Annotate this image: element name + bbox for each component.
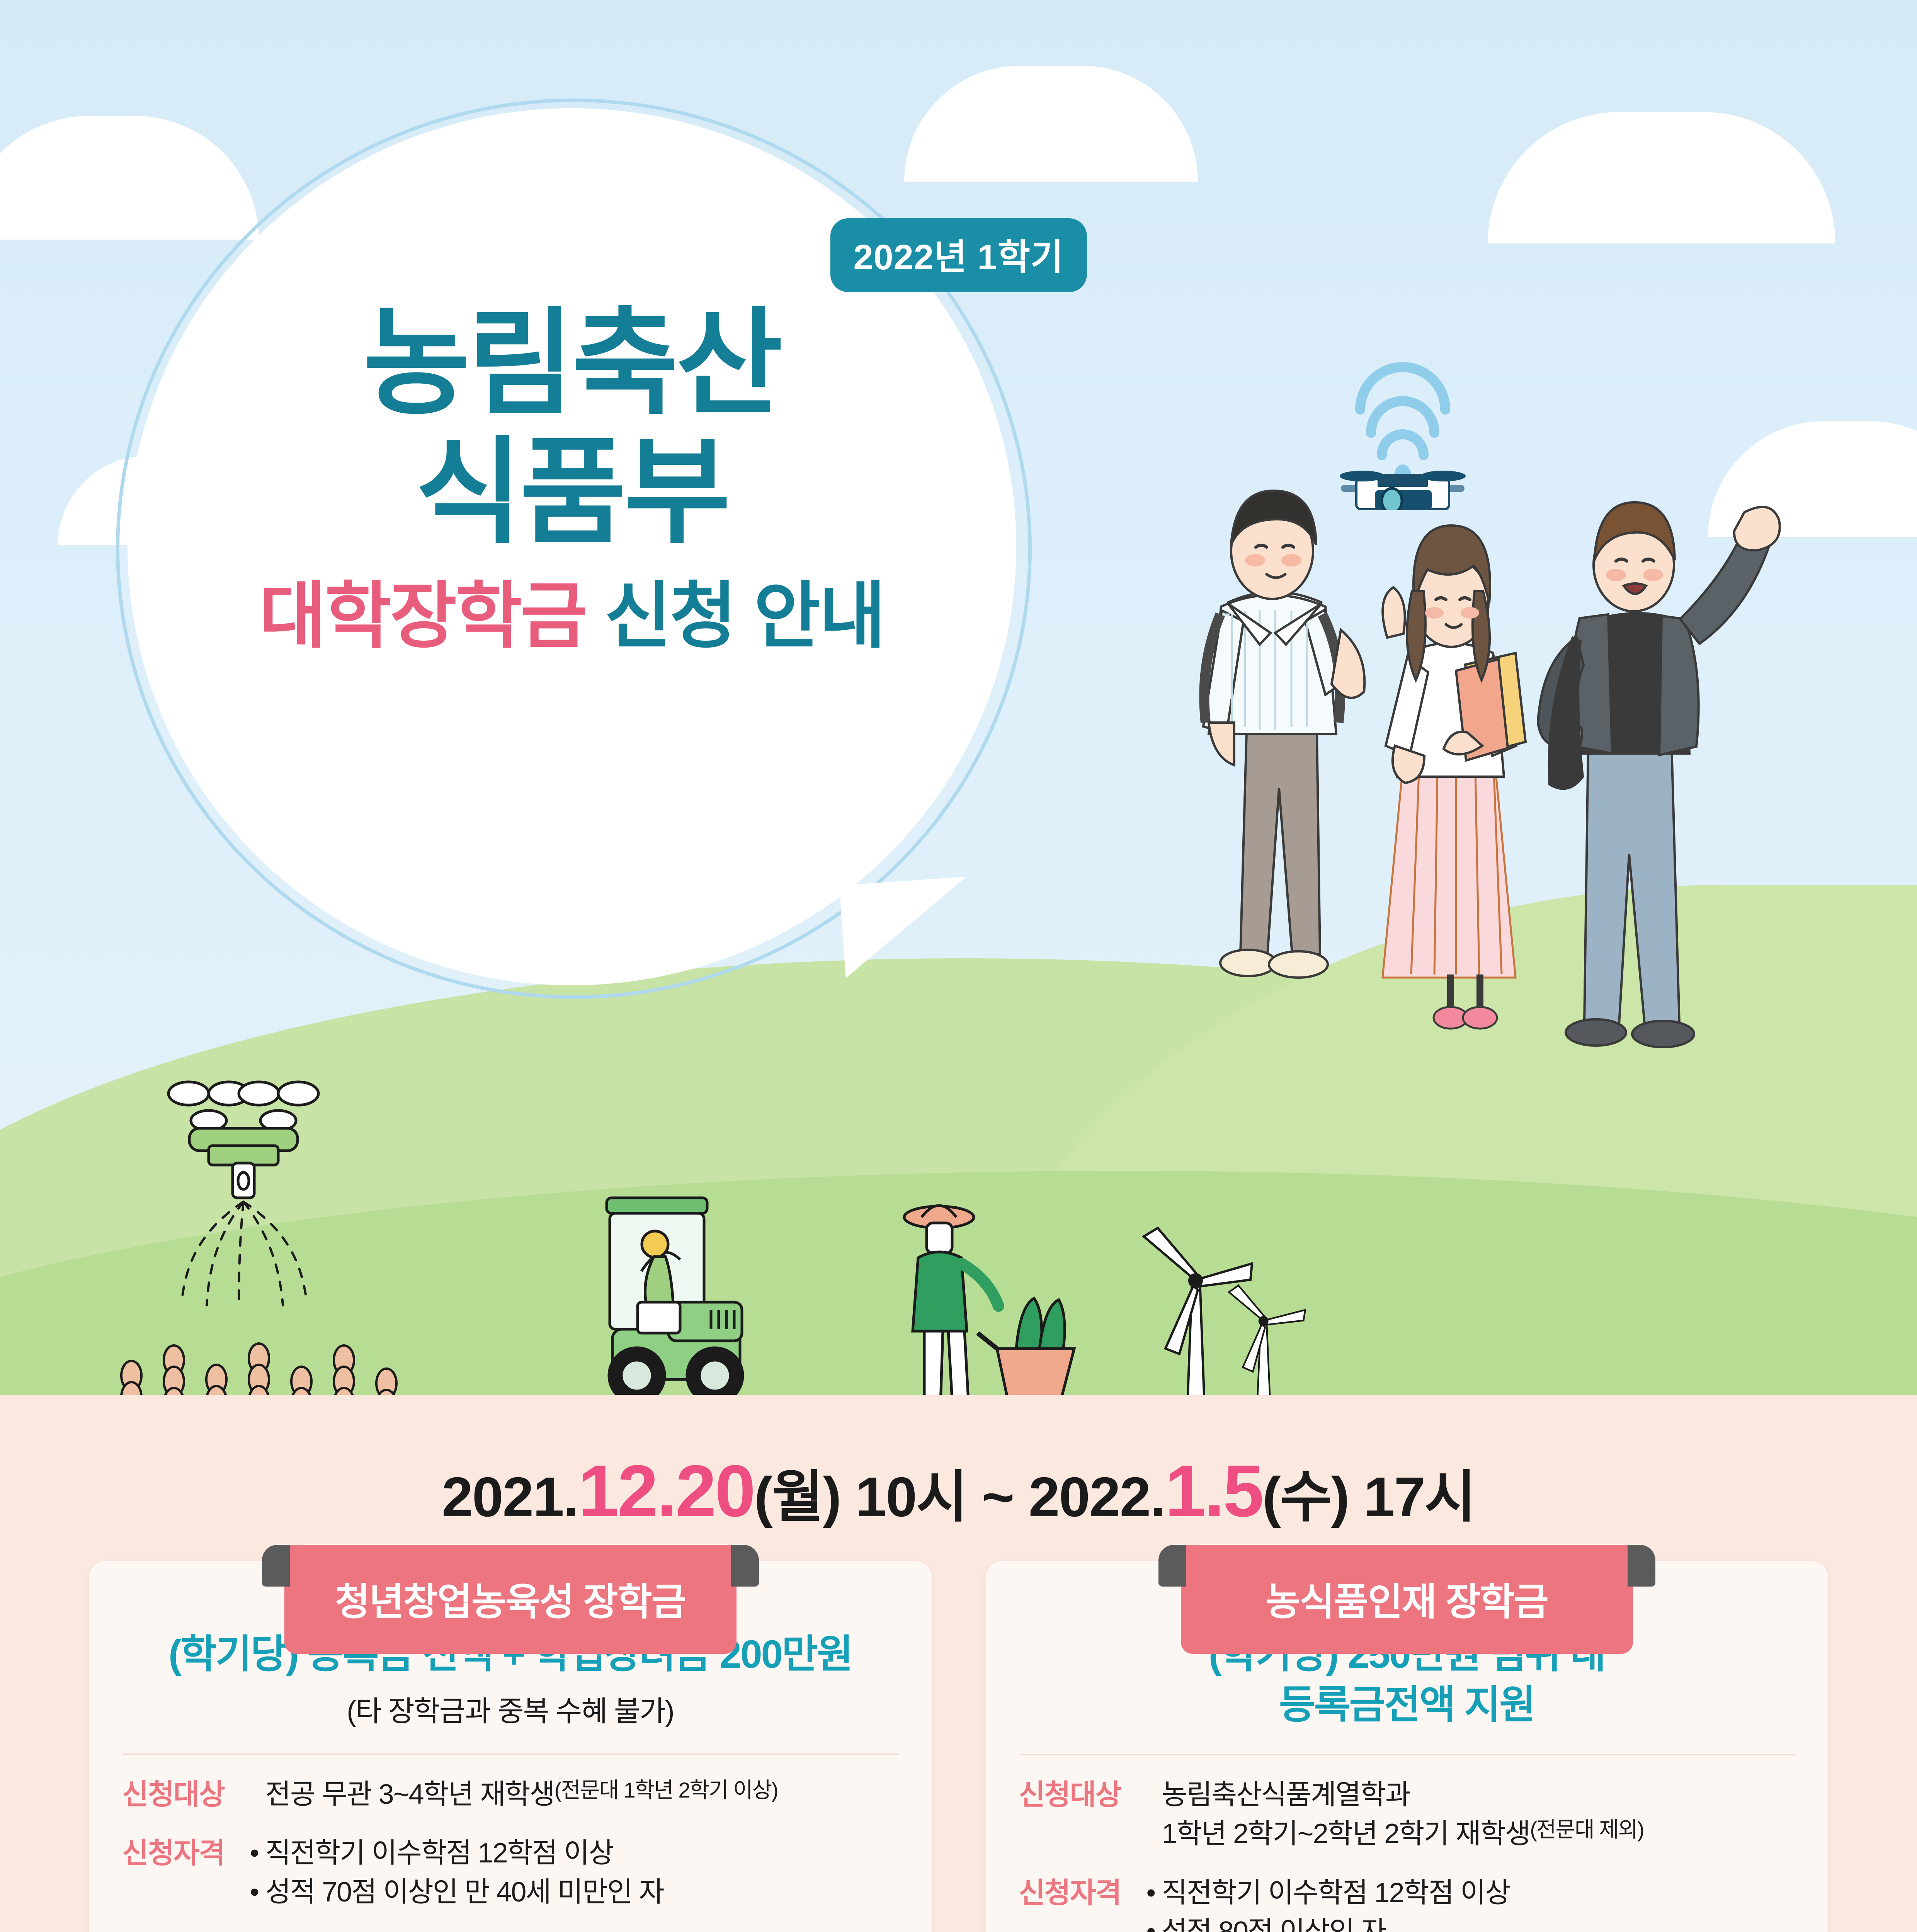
- period-end-date: 1.5: [1165, 1450, 1262, 1532]
- scholarship-card: 농식품인재 장학금(학기당) 250만원 범위 내등록금전액 지원신청대상농림축…: [986, 1561, 1828, 1932]
- bubble-tail: [839, 877, 973, 978]
- scholarship-cards: 청년창업농육성 장학금(학기당) 등록금 전액 + 학업장려금 200만원(타 …: [0, 1561, 1917, 1932]
- detail-row-label: 신청자격: [122, 1834, 250, 1872]
- period-start-year: 2021.: [442, 1466, 578, 1528]
- scholarship-ribbon-title: 청년창업농육성 장학금: [284, 1545, 737, 1654]
- page-title-line2: 식품부: [128, 434, 1016, 550]
- application-period: 2021.12.20(월) 10시 ~ 2022.1.5(수) 17시: [0, 1449, 1917, 1533]
- bullet-spacer: [1146, 1815, 1162, 1854]
- detail-line: •성적 80점 이상인 자: [1146, 1912, 1795, 1932]
- tractor-icon: [553, 1175, 784, 1395]
- subtitle-rest: 신청 안내: [604, 575, 884, 656]
- period-start-day: (월) 10시 ~: [754, 1466, 1029, 1528]
- page-subtitle: 대학장학금 신청 안내: [128, 580, 1016, 652]
- detail-line-text: 직전학기 이수학점 12학점 이상: [265, 1834, 614, 1873]
- detail-row-label: 신청대상: [122, 1775, 250, 1813]
- page-title-line1: 농림축산: [363, 298, 781, 428]
- detail-line: •직전학기 이수학점 12학점 이상: [250, 1834, 898, 1873]
- detail-line-text: 성적 70점 이상인 만 40세 미만인 자: [265, 1873, 664, 1912]
- hero-section: 2022년 1학기 농림축산 식품부 대학장학금 신청 안내: [0, 0, 1917, 1395]
- scholarship-detail-row: 신청자격•직전학기 이수학점 12학점 이상•성적 80점 이상인 자: [1019, 1874, 1795, 1932]
- bullet-spacer: [1146, 1776, 1162, 1815]
- detail-row-body: 전공 무관 3~4학년 재학생 (전문대 1학년 2학기 이상): [250, 1775, 898, 1814]
- detail-line: •성적 70점 이상인 만 40세 미만인 자: [250, 1873, 898, 1912]
- bullet-dot-icon: •: [1146, 1912, 1162, 1932]
- detail-line-note: (전문대 제외): [1530, 1815, 1643, 1854]
- detail-row-body: 농림축산식품계열학과1학년 2학기~2학년 2학기 재학생 (전문대 제외): [1146, 1776, 1795, 1854]
- detail-line: 전공 무관 3~4학년 재학생 (전문대 1학년 2학기 이상): [250, 1775, 898, 1814]
- detail-line: 농림축산식품계열학과: [1146, 1776, 1795, 1815]
- scholarship-detail-row: 신청자격•직전학기 이수학점 12학점 이상•성적 70점 이상인 만 40세 …: [122, 1834, 898, 1912]
- scholarship-card: 청년창업농육성 장학금(학기당) 등록금 전액 + 학업장려금 200만원(타 …: [89, 1561, 932, 1932]
- detail-row-label: 신청대상: [1019, 1776, 1146, 1814]
- detail-row-label: 신청자격: [1019, 1874, 1146, 1912]
- detail-row-body: •직전학기 이수학점 12학점 이상•성적 80점 이상인 자: [1146, 1874, 1795, 1932]
- detail-line-text: 직전학기 이수학점 12학점 이상: [1162, 1874, 1510, 1913]
- detail-line: 1학년 2학기~2학년 2학기 재학생 (전문대 제외): [1146, 1815, 1795, 1854]
- term-badge: 2022년 1학기: [830, 218, 1087, 292]
- detail-row-body: •직전학기 이수학점 12학점 이상•성적 70점 이상인 만 40세 미만인 …: [250, 1834, 898, 1912]
- farmer-wheelbarrow-icon: [881, 1182, 1090, 1395]
- detail-line-text: 농림축산식품계열학과: [1162, 1776, 1410, 1815]
- card-divider: [122, 1753, 898, 1755]
- period-end-day: (수) 17시: [1262, 1466, 1475, 1528]
- card-divider: [1019, 1754, 1795, 1755]
- bullet-dot-icon: •: [250, 1834, 265, 1873]
- scholarship-ribbon-title: 농식품인재 장학금: [1181, 1545, 1633, 1654]
- period-end-year: 2022.: [1029, 1466, 1165, 1528]
- bullet-dot-icon: •: [250, 1873, 265, 1912]
- bullet-dot-icon: •: [1146, 1874, 1162, 1913]
- detail-line-text: 전공 무관 3~4학년 재학생: [265, 1775, 555, 1814]
- hero-title-block: 농림축산 식품부 대학장학금 신청 안내: [128, 305, 1016, 652]
- wheat-field-icon: [100, 1318, 487, 1395]
- detail-line-text: 성적 80점 이상인 자: [1162, 1912, 1386, 1932]
- scholarship-detail-row: 신청대상농림축산식품계열학과1학년 2학기~2학년 2학기 재학생 (전문대 제…: [1019, 1776, 1795, 1854]
- scholarship-detail-row: 신청대상전공 무관 3~4학년 재학생 (전문대 1학년 2학기 이상): [122, 1775, 898, 1814]
- scholarship-amount-note: (타 장학금과 중복 수혜 불가): [122, 1688, 898, 1730]
- body-section: 2021.12.20(월) 10시 ~ 2022.1.5(수) 17시 청년창업…: [0, 1395, 1917, 1932]
- detail-line-text: 1학년 2학기~2학년 2학기 재학생: [1162, 1815, 1530, 1854]
- bullet-spacer: [250, 1775, 265, 1814]
- wind-turbine-icon: [1121, 1190, 1337, 1395]
- detail-line: •직전학기 이수학점 12학점 이상: [1146, 1874, 1795, 1913]
- students-illustration: [1132, 475, 1789, 1209]
- period-start-date: 12.20: [578, 1450, 754, 1532]
- detail-line-note: (전문대 1학년 2학기 이상): [555, 1775, 778, 1814]
- subtitle-highlight: 대학장학금: [259, 575, 586, 656]
